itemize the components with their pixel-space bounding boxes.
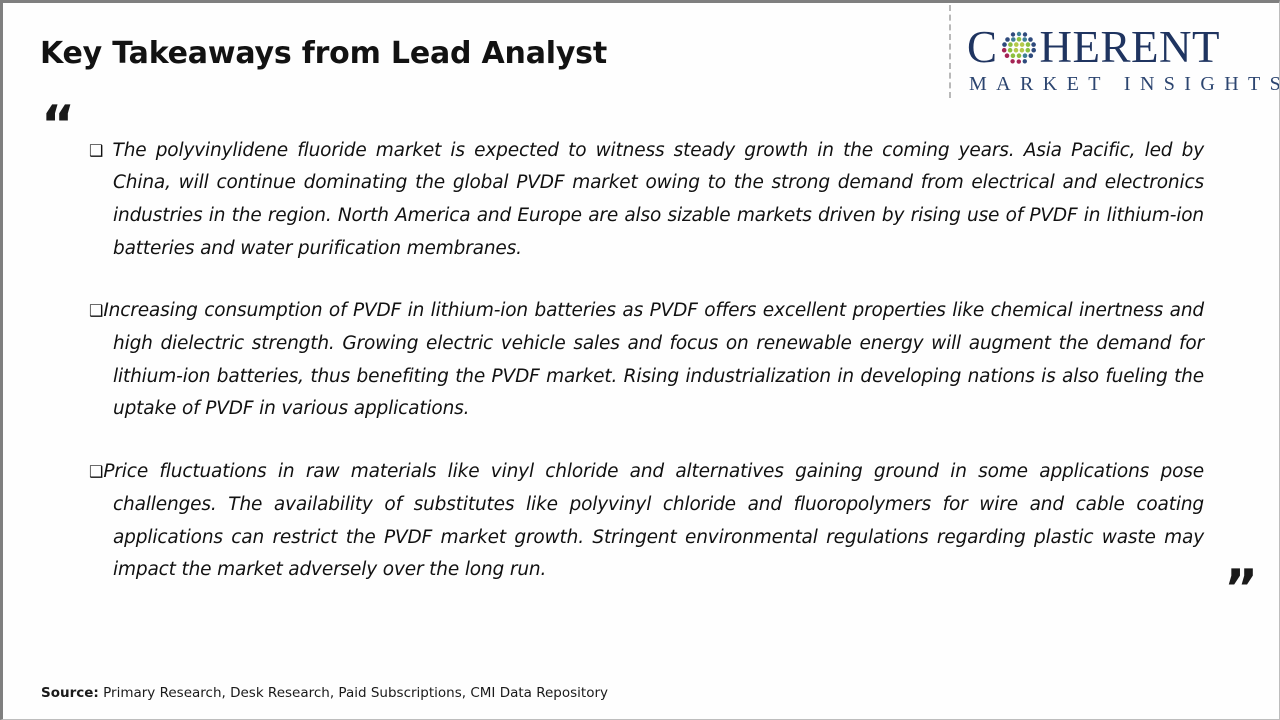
square-bullet-icon: ❑ bbox=[89, 301, 103, 320]
list-item-text: The polyvinylidene fluoride market is ex… bbox=[103, 140, 1204, 259]
page-title: Key Takeaways from Lead Analyst bbox=[40, 36, 607, 71]
header-vertical-divider bbox=[949, 5, 951, 98]
source-value: Primary Research, Desk Research, Paid Su… bbox=[99, 685, 608, 701]
slide-header: Key Takeaways from Lead Analyst C bbox=[3, 3, 1279, 103]
list-item-text: Increasing consumption of PVDF in lithiu… bbox=[103, 300, 1204, 419]
dotted-sphere-icon bbox=[1000, 30, 1038, 68]
list-item-text: Price fluctuations in raw materials like… bbox=[103, 461, 1204, 580]
logo-letters-herent: HERENT bbox=[1040, 25, 1220, 70]
opening-quote-icon: “ bbox=[41, 99, 75, 151]
source-label: Source: bbox=[41, 685, 99, 701]
list-item: ❑Increasing consumption of PVDF in lithi… bbox=[89, 295, 1204, 426]
source-line: Source: Primary Research, Desk Research,… bbox=[41, 685, 608, 701]
logo-letter-c: C bbox=[967, 25, 998, 70]
list-item: ❑ The polyvinylidene fluoride market is … bbox=[89, 135, 1204, 266]
logo-wordmark: C bbox=[967, 23, 1220, 71]
coherent-market-insights-logo: C bbox=[967, 23, 1267, 99]
square-bullet-icon: ❑ bbox=[89, 141, 103, 160]
closing-quote-icon: ” bbox=[1224, 563, 1258, 615]
slide-canvas: Key Takeaways from Lead Analyst C bbox=[0, 0, 1280, 720]
list-item: ❑Price fluctuations in raw materials lik… bbox=[89, 456, 1204, 587]
takeaways-list: ❑ The polyvinylidene fluoride market is … bbox=[89, 116, 1204, 587]
square-bullet-icon: ❑ bbox=[89, 462, 103, 481]
logo-tagline: MARKET INSIGHTS bbox=[969, 73, 1280, 96]
